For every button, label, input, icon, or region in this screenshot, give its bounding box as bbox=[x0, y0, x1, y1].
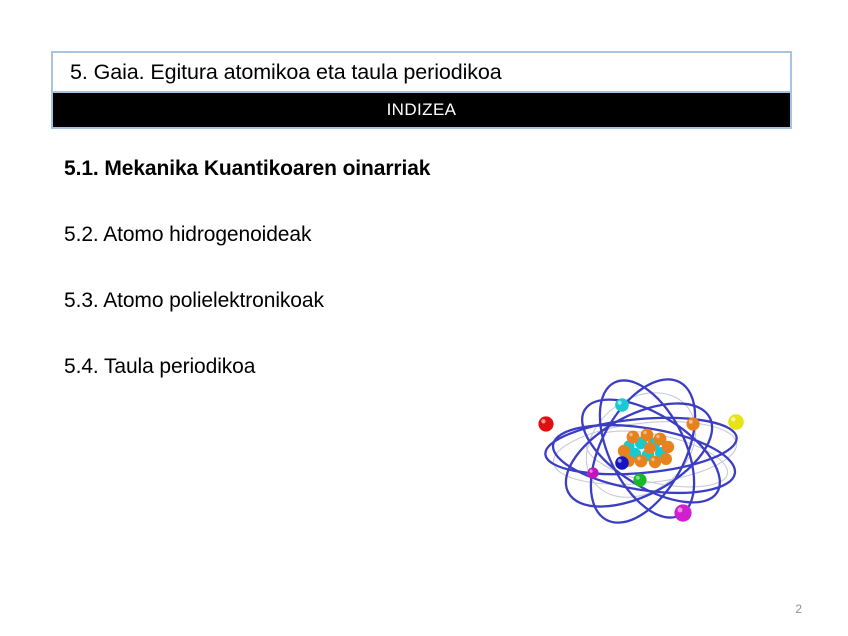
atom-illustration bbox=[523, 371, 768, 531]
slide-title: 5. Gaia. Egitura atomikoa eta taula peri… bbox=[53, 60, 502, 85]
electron-yellow bbox=[728, 414, 744, 430]
toc-item-1[interactable]: 5.1. Mekanika Kuantikoaren oinarriak bbox=[64, 158, 704, 180]
electron-red bbox=[538, 416, 553, 431]
electron-orbits bbox=[543, 371, 740, 531]
slide-title-box: 5. Gaia. Egitura atomikoa eta taula peri… bbox=[51, 51, 792, 93]
toc-item-3[interactable]: 5.3. Atomo polielektronikoak bbox=[64, 290, 704, 312]
section-bar-label: INDIZEA bbox=[387, 100, 457, 120]
electron-blue bbox=[615, 456, 629, 470]
section-bar: INDIZEA bbox=[51, 93, 792, 129]
electron-green bbox=[633, 473, 646, 486]
electron-orange bbox=[686, 417, 699, 430]
electron-cyan bbox=[615, 398, 629, 412]
page-number: 2 bbox=[795, 602, 802, 616]
atom-svg bbox=[523, 371, 768, 531]
slide-canvas: 5. Gaia. Egitura atomikoa eta taula peri… bbox=[0, 0, 848, 636]
electron-purple bbox=[587, 467, 598, 478]
electron-magenta bbox=[674, 504, 691, 521]
toc-item-2[interactable]: 5.2. Atomo hidrogenoideak bbox=[64, 224, 704, 246]
